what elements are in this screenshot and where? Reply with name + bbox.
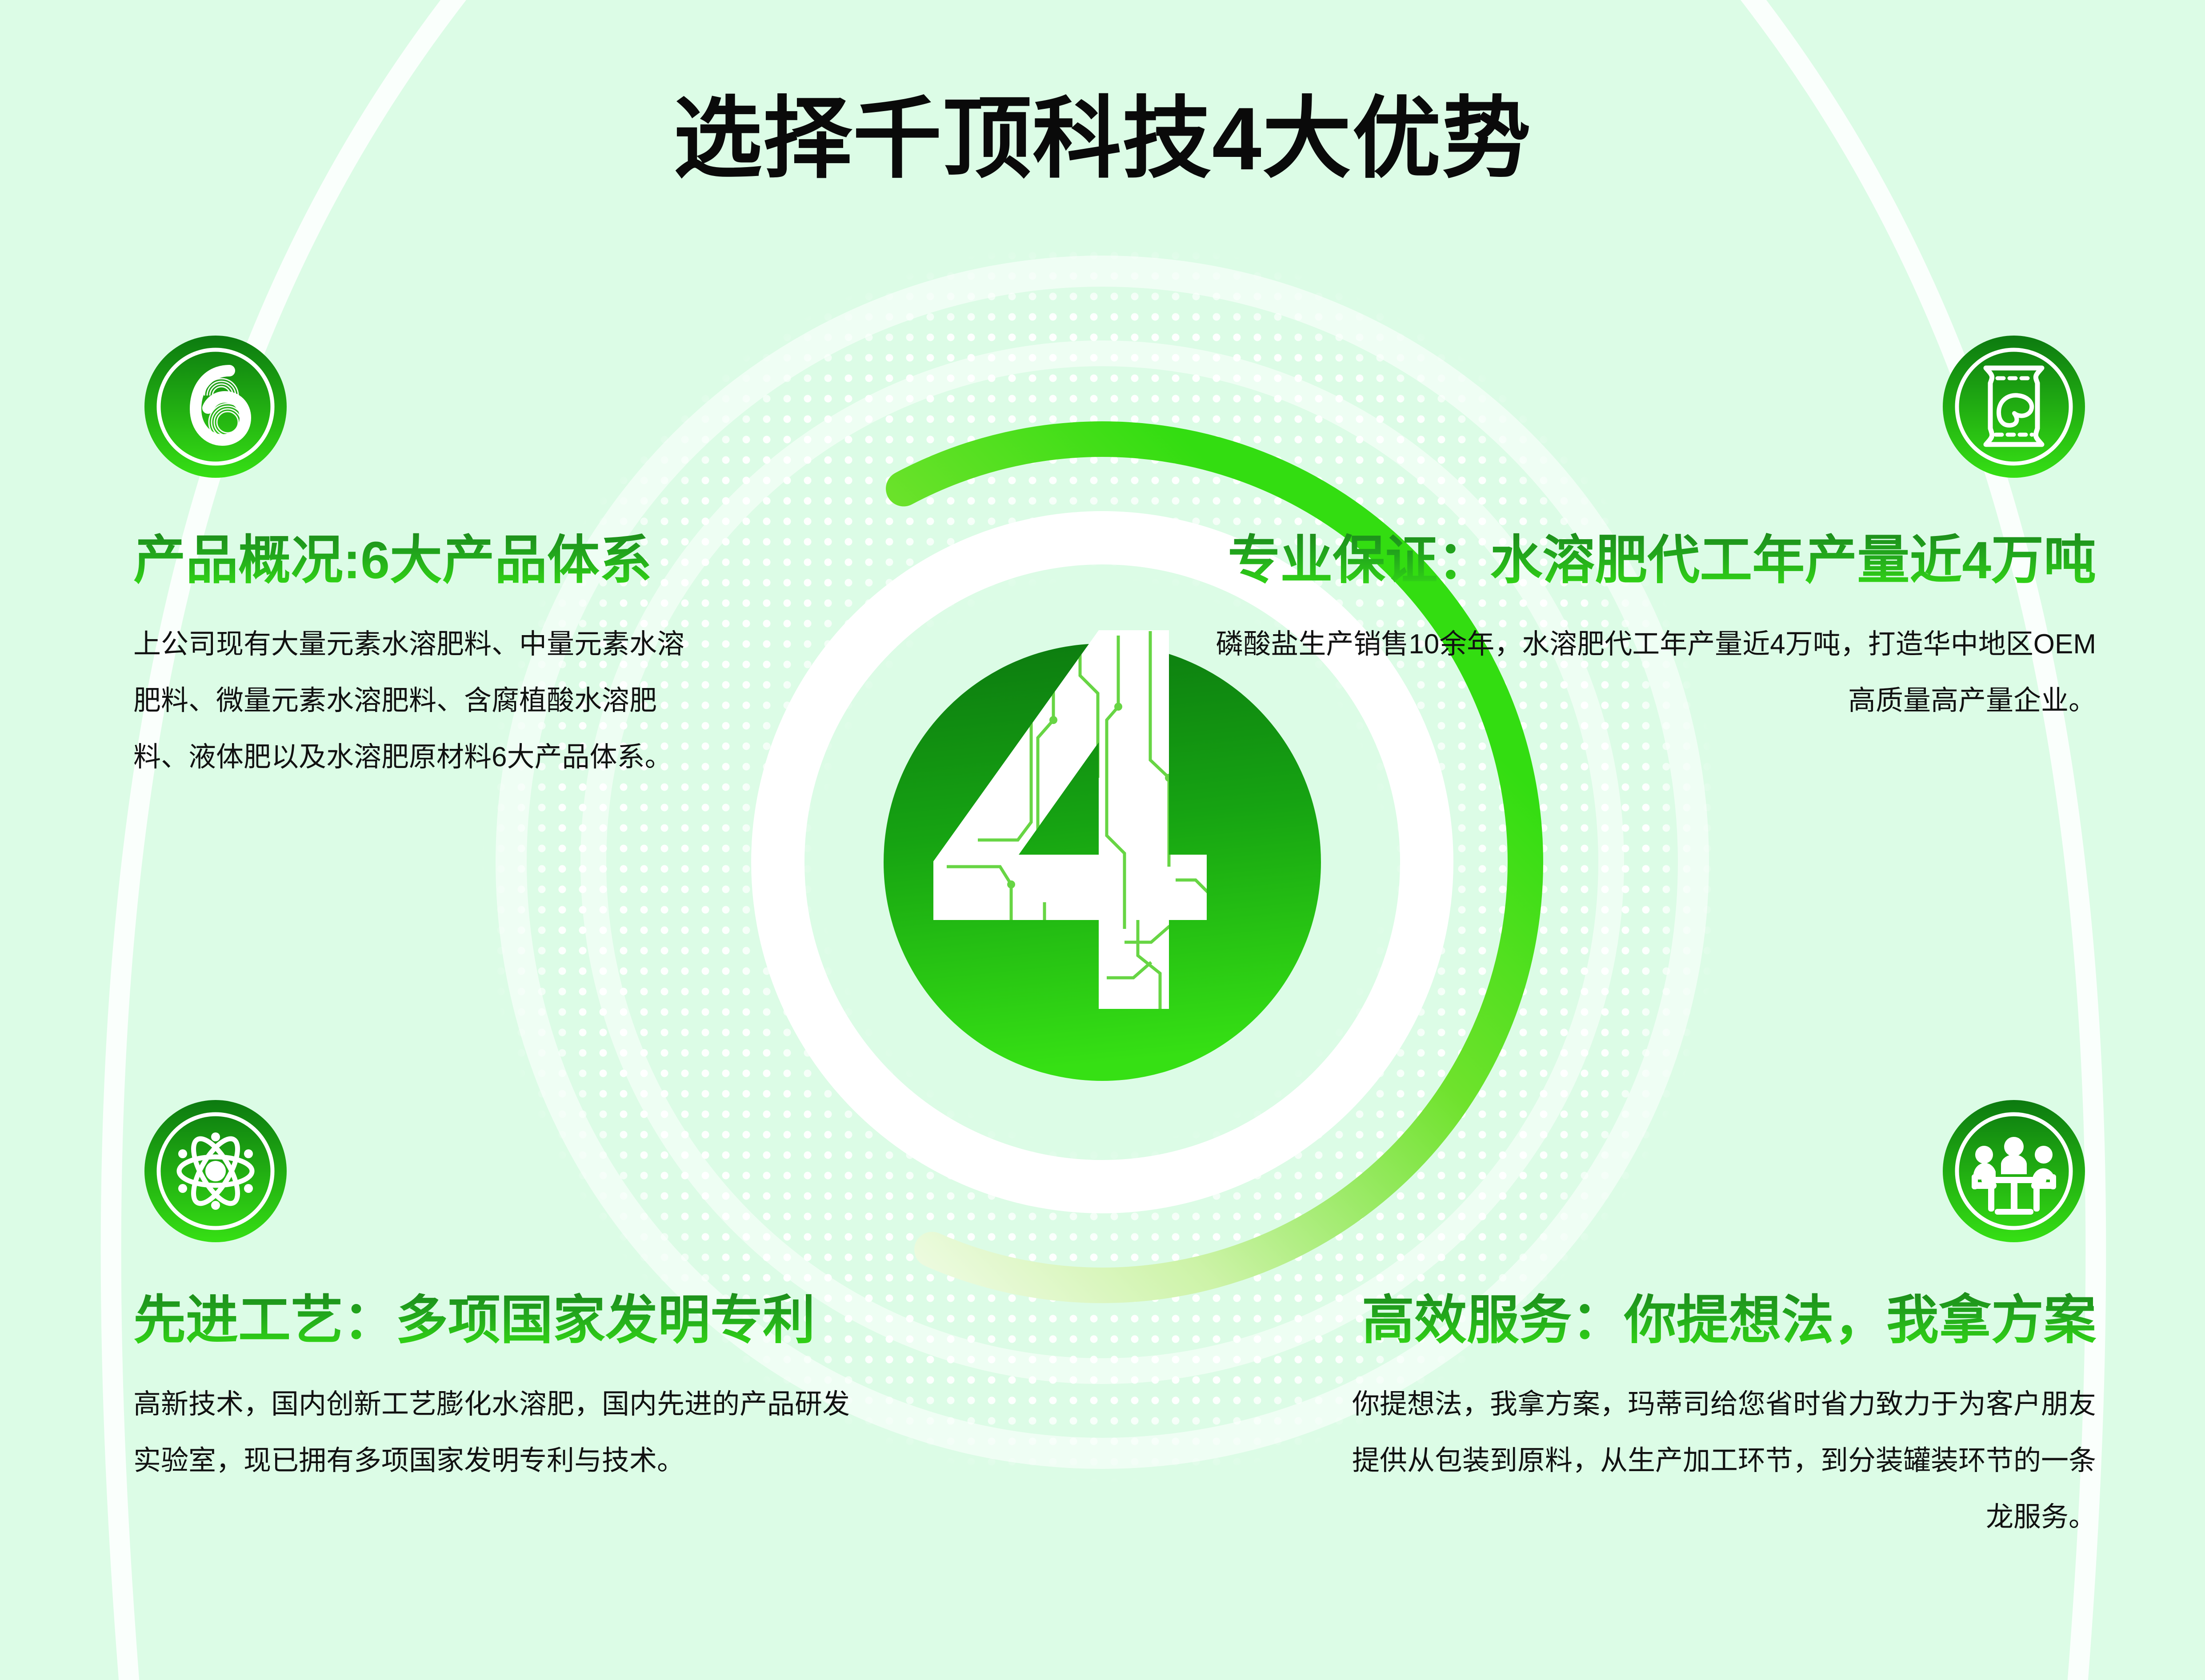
meeting-people-icon bbox=[1941, 1098, 2087, 1247]
atom-icon bbox=[142, 1098, 289, 1247]
advantage-body: 上公司现有大量元素水溶肥料、中量元素水溶肥料、微量元素水溶肥料、含腐植酸水溶肥料… bbox=[133, 616, 689, 785]
advantage-heading: 产品概况:6大产品体系 bbox=[133, 529, 689, 593]
advantage-heading: 高效服务：你提想法，我拿方案 bbox=[1332, 1289, 2096, 1353]
advantage-block-bottom-right: 高效服务：你提想法，我拿方案 你提想法，我拿方案，玛蒂司给您省时省力致力于为客户… bbox=[1332, 1289, 2096, 1545]
advantage-body: 高新技术，国内创新工艺膨化水溶肥，国内先进的产品研发实验室，现已拥有多项国家发明… bbox=[133, 1376, 853, 1489]
number-six-spiral-icon bbox=[142, 333, 289, 482]
advantage-body: 你提想法，我拿方案，玛蒂司给您省时省力致力于为客户朋友提供从包装到原料，从生产加… bbox=[1332, 1376, 2096, 1545]
infographic-canvas: 选择千顶科技4大优势 bbox=[0, 0, 2205, 1680]
fertilizer-bag-icon bbox=[1941, 333, 2087, 482]
advantage-body: 磷酸盐生产销售10余年，水溶肥代工年产量近4万吨，打造华中地区OEM高质量高产量… bbox=[1207, 616, 2096, 729]
advantage-heading: 专业保证：水溶肥代工年产量近4万吨 bbox=[1207, 529, 2096, 593]
advantage-block-bottom-left: 先进工艺：多项国家发明专利 高新技术，国内创新工艺膨化水溶肥，国内先进的产品研发… bbox=[133, 1289, 853, 1489]
advantage-heading: 先进工艺：多项国家发明专利 bbox=[133, 1289, 853, 1353]
advantage-block-top-right: 专业保证：水溶肥代工年产量近4万吨 磷酸盐生产销售10余年，水溶肥代工年产量近4… bbox=[1207, 529, 2096, 729]
advantage-block-top-left: 产品概况:6大产品体系 上公司现有大量元素水溶肥料、中量元素水溶肥料、微量元素水… bbox=[133, 529, 689, 785]
page-title: 选择千顶科技4大优势 bbox=[0, 91, 2205, 187]
